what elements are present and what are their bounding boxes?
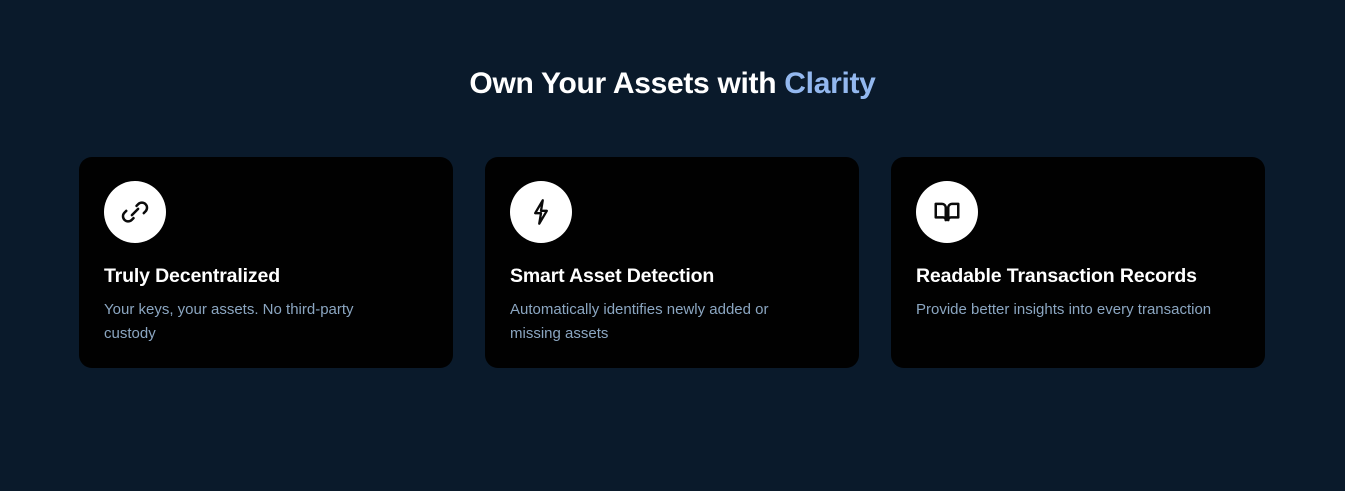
feature-card-description: Provide better insights into every trans… <box>916 298 1216 322</box>
link-icon <box>104 181 166 243</box>
page-title: Own Your Assets with Clarity <box>0 65 1345 103</box>
page-title-main: Own Your Assets with <box>469 67 784 100</box>
features-section: Own Your Assets with Clarity Truly Decen… <box>0 0 1345 491</box>
feature-card-description: Your keys, your assets. No third-party c… <box>104 298 404 346</box>
feature-cards-row: Truly Decentralized Your keys, your asse… <box>79 157 1265 368</box>
feature-card-smart-asset-detection[interactable]: Smart Asset Detection Automatically iden… <box>485 157 859 368</box>
feature-card-title: Smart Asset Detection <box>510 264 834 288</box>
book-open-icon <box>916 181 978 243</box>
feature-card-readable-transaction-records[interactable]: Readable Transaction Records Provide bet… <box>891 157 1265 368</box>
feature-card-truly-decentralized[interactable]: Truly Decentralized Your keys, your asse… <box>79 157 453 368</box>
feature-card-title: Readable Transaction Records <box>916 264 1240 288</box>
feature-card-title: Truly Decentralized <box>104 264 428 288</box>
feature-card-description: Automatically identifies newly added or … <box>510 298 810 346</box>
zap-icon <box>510 181 572 243</box>
page-title-accent: Clarity <box>784 67 875 100</box>
